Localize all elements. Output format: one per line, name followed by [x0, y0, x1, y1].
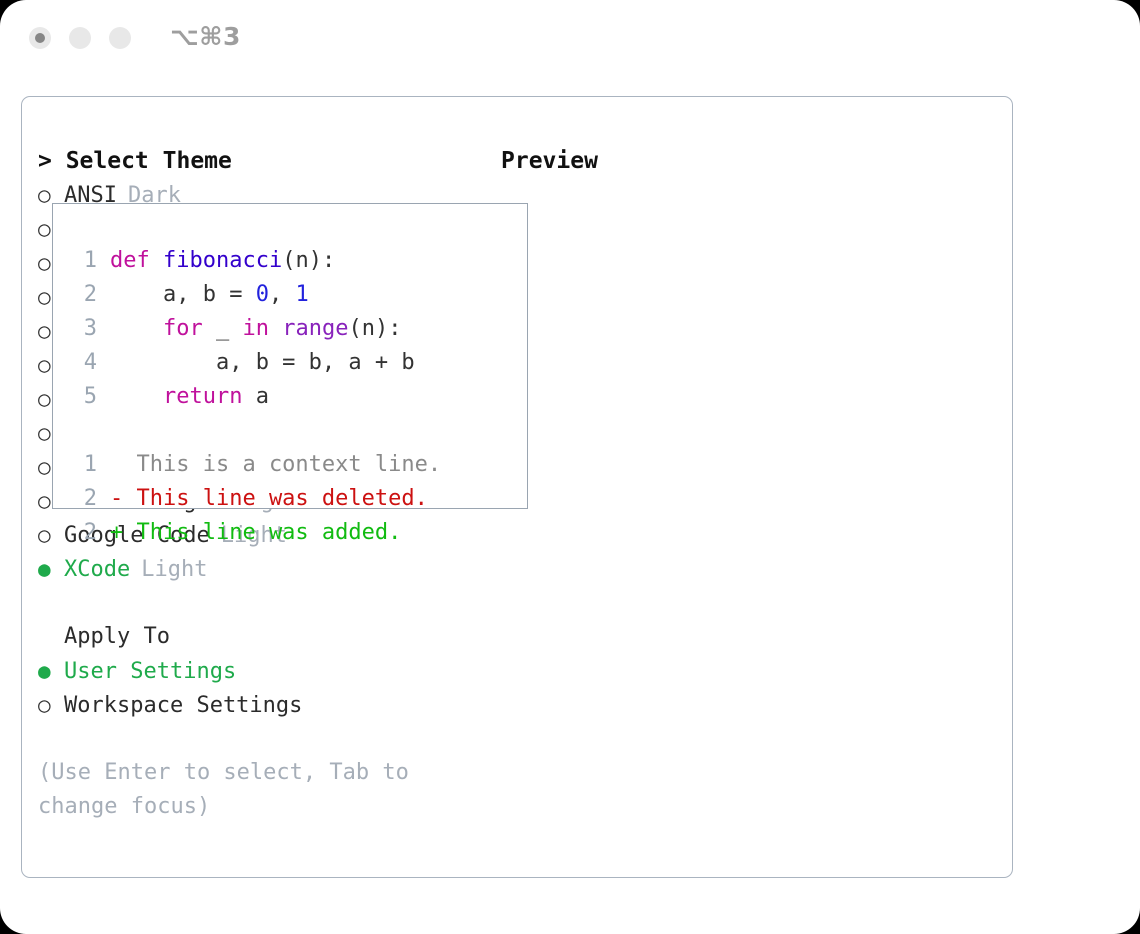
window-control-dot-3[interactable]: [109, 27, 131, 49]
code-line-number: 4: [71, 346, 97, 380]
active-dot-indicator: [35, 33, 45, 43]
code-token-plain: (n):: [348, 316, 401, 341]
preview-heading: Preview: [501, 144, 991, 178]
code-line-text: a, b = b, a + b: [110, 346, 415, 380]
diff-line-text: - This line was deleted.: [110, 482, 428, 516]
code-token-plain: [150, 248, 163, 273]
diff-line-del: 2- This line was deleted.: [71, 482, 521, 516]
code-line-number: 3: [71, 312, 97, 346]
code-token-kw: def: [110, 248, 150, 273]
theme-option-label: XCode: [64, 553, 130, 587]
code-token-kw: for: [163, 316, 203, 341]
theme-option-xcode[interactable]: ●XCodeLight: [38, 552, 478, 586]
code-token-plain: ,: [269, 282, 296, 307]
code-token-fn: fibonacci: [163, 248, 282, 273]
window-control-dot-2[interactable]: [69, 27, 91, 49]
preview-box: 1def fibonacci(n):2 a, b = 0, 13 for _ i…: [52, 203, 528, 509]
keyboard-hint-text: (Use Enter to select, Tab to change focu…: [38, 756, 438, 824]
select-theme-heading: > Select Theme: [38, 144, 478, 178]
terminal-theme-picker-window: ⌥⌘3 > Select Theme ○ANSIDark○Atom OneDar…: [0, 0, 1140, 934]
code-line-text: for _ in range(n):: [110, 312, 401, 346]
code-token-plain: (n):: [282, 248, 335, 273]
code-token-plain: [269, 316, 282, 341]
code-line-number: 2: [71, 278, 97, 312]
apply-to-option-user-settings[interactable]: ●User Settings: [38, 654, 478, 688]
preview-content: 1def fibonacci(n):2 a, b = 0, 13 for _ i…: [71, 244, 521, 550]
diff-sample: 1 This is a context line.2- This line wa…: [71, 448, 521, 550]
radio-selected-icon: ●: [38, 654, 64, 688]
apply-to-list[interactable]: ●User Settings○Workspace Settings: [38, 654, 478, 722]
code-diff-separator: [71, 414, 521, 448]
preview-column: Preview: [501, 144, 991, 178]
diff-line-ctx: 1 This is a context line.: [71, 448, 521, 482]
diff-line-text: This is a context line.: [110, 448, 441, 482]
code-token-plain: a, b =: [110, 282, 256, 307]
apply-to-option-label: User Settings: [64, 655, 236, 689]
code-token-plain: a, b = b, a + b: [110, 350, 415, 375]
diff-line-add: 2+ This line was added.: [71, 516, 521, 550]
main-panel: > Select Theme ○ANSIDark○Atom OneDark○Ay…: [21, 96, 1013, 878]
titlebar: ⌥⌘3: [0, 0, 1140, 78]
code-token-kw: in: [242, 316, 269, 341]
theme-option-category: Light: [141, 553, 207, 587]
code-token-plain: [110, 384, 163, 409]
radio-selected-icon: ●: [38, 552, 64, 586]
diff-line-number: 1: [71, 448, 97, 482]
window-control-dot-active[interactable]: [29, 27, 51, 49]
code-line-text: return a: [110, 380, 269, 414]
radio-unselected-icon: ○: [38, 518, 64, 552]
code-token-num: 0: [256, 282, 269, 307]
spacer-2: [38, 722, 478, 756]
code-token-bfn: range: [282, 316, 348, 341]
code-token-plain: a: [242, 384, 269, 409]
diff-line-text: + This line was added.: [110, 516, 401, 550]
apply-to-option-label: Workspace Settings: [64, 689, 302, 723]
code-line: 3 for _ in range(n):: [71, 312, 521, 346]
diff-line-number: 2: [71, 482, 97, 516]
code-sample: 1def fibonacci(n):2 a, b = 0, 13 for _ i…: [71, 244, 521, 414]
radio-unselected-icon: ○: [38, 688, 64, 722]
spacer-1: [38, 586, 478, 620]
code-line: 2 a, b = 0, 1: [71, 278, 521, 312]
code-line-number: 5: [71, 380, 97, 414]
code-token-plain: _: [203, 316, 243, 341]
apply-to-heading: Apply To: [38, 620, 478, 654]
keyboard-shortcut-label: ⌥⌘3: [170, 22, 241, 51]
code-token-num: 1: [295, 282, 308, 307]
code-token-plain: [110, 316, 163, 341]
diff-line-number: 2: [71, 516, 97, 550]
code-token-kw: return: [163, 384, 242, 409]
code-line: 4 a, b = b, a + b: [71, 346, 521, 380]
code-line: 5 return a: [71, 380, 521, 414]
code-line-text: a, b = 0, 1: [110, 278, 309, 312]
code-line-number: 1: [71, 244, 97, 278]
apply-to-option-workspace-settings[interactable]: ○Workspace Settings: [38, 688, 478, 722]
code-line: 1def fibonacci(n):: [71, 244, 521, 278]
code-line-text: def fibonacci(n):: [110, 244, 335, 278]
